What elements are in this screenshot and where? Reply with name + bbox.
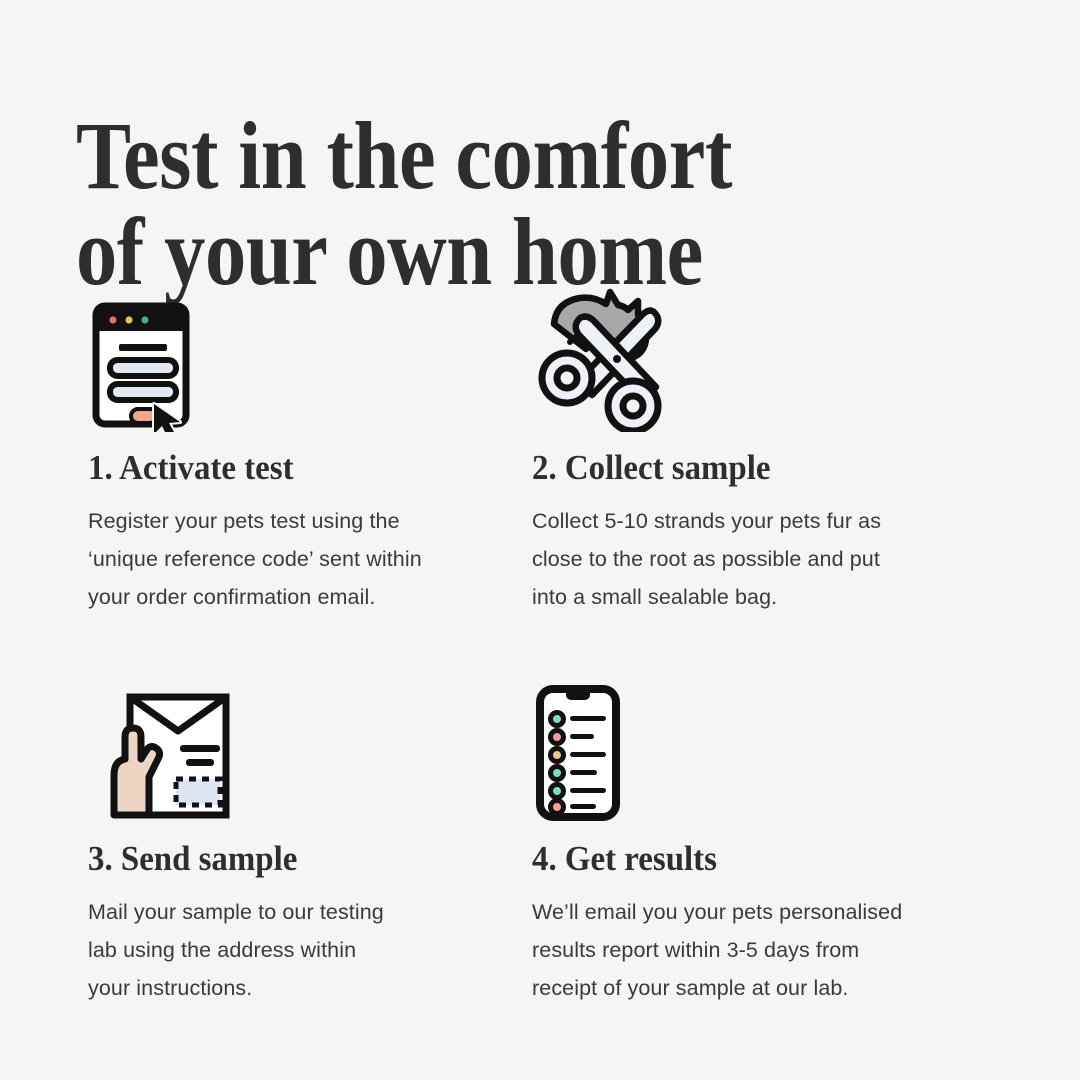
step-item-3: 3. Send sample Mail your sample to our t… bbox=[88, 671, 532, 1007]
step-1-body-line-2: ‘unique reference code’ sent within bbox=[88, 540, 508, 578]
step-3-body-line-2: lab using the address within bbox=[88, 931, 508, 969]
step-3-title: 3. Send sample bbox=[88, 839, 505, 879]
step-2-title: 2. Collect sample bbox=[532, 448, 949, 488]
step-4-body-line-3: receipt of your sample at our lab. bbox=[532, 969, 952, 1007]
step-1-body-line-1: Register your pets test using the bbox=[88, 502, 508, 540]
step-2-body-line-3: into a small sealable bag. bbox=[532, 578, 952, 616]
step-item-1: 1. Activate test Register your pets test… bbox=[88, 280, 532, 616]
scissors-fur-icon bbox=[532, 282, 682, 432]
step-2-icon-wrap bbox=[532, 280, 976, 432]
page-title-line-1: Test in the comfort bbox=[76, 108, 850, 204]
poster-root: Test in the comfort of your own home bbox=[0, 0, 1080, 1080]
step-item-4: 4. Get results We’ll email you your pets… bbox=[532, 671, 976, 1007]
step-1-body: Register your pets test using the ‘uniqu… bbox=[88, 502, 508, 616]
step-3-body: Mail your sample to our testing lab usin… bbox=[88, 893, 508, 1007]
step-4-body: We’ll email you your pets personalised r… bbox=[532, 893, 952, 1007]
step-4-title: 4. Get results bbox=[532, 839, 949, 879]
step-2-body: Collect 5-10 strands your pets fur as cl… bbox=[532, 502, 952, 616]
step-1-body-line-3: your order confirmation email. bbox=[88, 578, 508, 616]
step-3-body-line-1: Mail your sample to our testing bbox=[88, 893, 508, 931]
steps-grid: 1. Activate test Register your pets test… bbox=[0, 280, 1080, 1007]
step-4-icon-wrap bbox=[532, 671, 976, 823]
step-1-title: 1. Activate test bbox=[88, 448, 505, 488]
step-2-body-line-1: Collect 5-10 strands your pets fur as bbox=[532, 502, 952, 540]
browser-form-cursor-icon bbox=[88, 292, 194, 432]
step-3-body-line-3: your instructions. bbox=[88, 969, 508, 1007]
hand-envelope-icon bbox=[104, 683, 234, 823]
step-4-body-line-2: results report within 3-5 days from bbox=[532, 931, 952, 969]
phone-results-list-icon bbox=[534, 683, 622, 823]
page-title: Test in the comfort of your own home bbox=[76, 108, 850, 300]
step-2-body-line-2: close to the root as possible and put bbox=[532, 540, 952, 578]
step-3-icon-wrap bbox=[88, 671, 532, 823]
step-4-body-line-1: We’ll email you your pets personalised bbox=[532, 893, 952, 931]
step-1-icon-wrap bbox=[88, 280, 532, 432]
step-item-2: 2. Collect sample Collect 5-10 strands y… bbox=[532, 280, 976, 616]
